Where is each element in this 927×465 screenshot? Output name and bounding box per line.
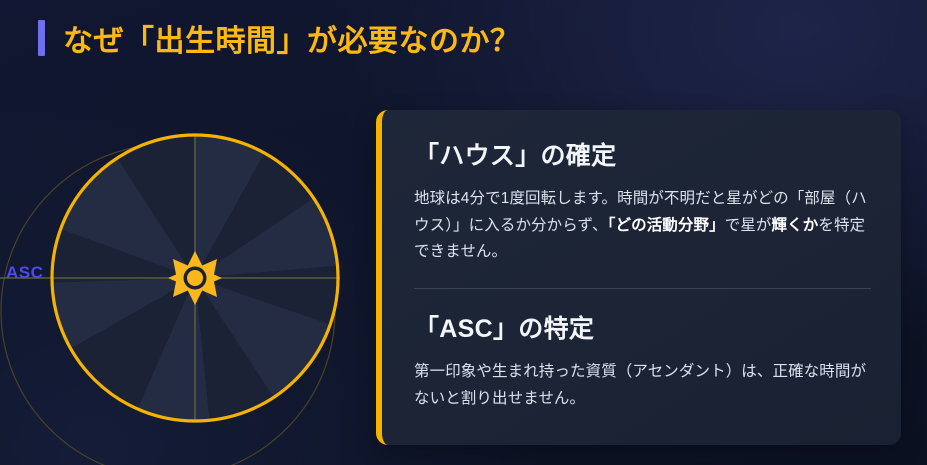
wheel-svg (50, 133, 340, 423)
card-heading-house: 「ハウス」の確定 (414, 136, 871, 172)
card-body-asc: 第一印象や生まれ持った資質（アセンダント）は、正確な時間がないと割り出せません。 (414, 359, 871, 412)
asc-label: ASC (6, 263, 43, 283)
page-title: なぜ「出生時間」が必要なのか？ (38, 16, 521, 60)
page-title-text: なぜ「出生時間」が必要なのか？ (63, 16, 521, 60)
card-section-asc: 「ASC」の特定 第一印象や生まれ持った資質（アセンダント）は、正確な時間がない… (414, 309, 871, 412)
astrology-wheel (50, 133, 340, 423)
card-section-house: 「ハウス」の確定 地球は4分で1度回転します。時間が不明だと星がどの「部屋（ハウ… (414, 136, 871, 266)
title-accent-bar (38, 20, 45, 56)
card-body-house: 地球は4分で1度回転します。時間が不明だと星がどの「部屋（ハウス）」に入るか分か… (414, 186, 871, 266)
info-card: 「ハウス」の確定 地球は4分で1度回転します。時間が不明だと星がどの「部屋（ハウ… (376, 110, 901, 445)
card-heading-asc: 「ASC」の特定 (414, 309, 871, 345)
card-divider (414, 288, 871, 289)
slide-root: なぜ「出生時間」が必要なのか？ (0, 0, 927, 465)
